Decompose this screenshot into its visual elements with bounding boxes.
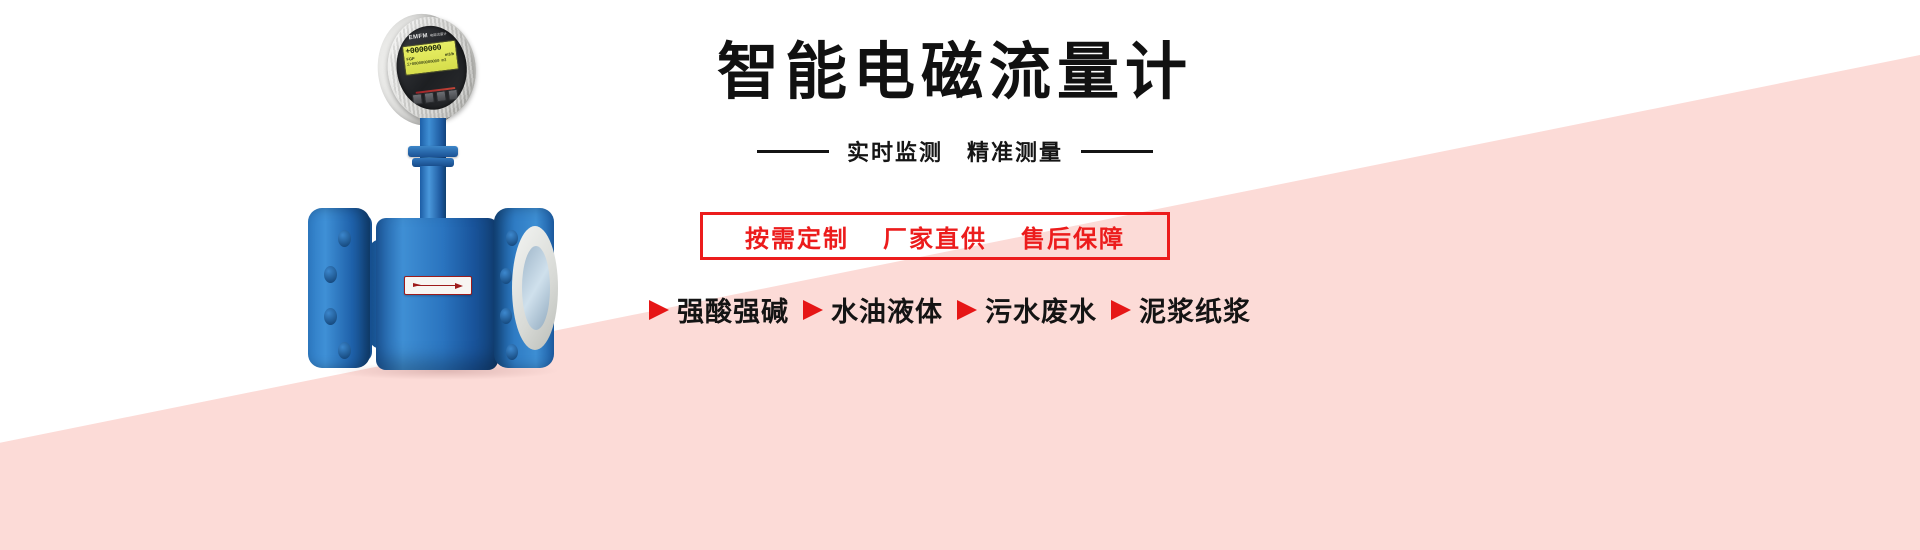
application-item-slurry-pulp: 泥浆纸浆 <box>1111 290 1251 329</box>
lcd-display: +0000000 FGP m3/h Σ+000000000000 m3 <box>402 40 459 76</box>
application-label: 污水废水 <box>985 290 1097 329</box>
subtitle-rule-right <box>1081 150 1153 153</box>
triangle-bullet-icon <box>803 300 823 320</box>
lcd-unit-label: m3/h <box>445 51 455 58</box>
application-item-sewage: 污水废水 <box>957 290 1097 329</box>
flange-left-bolt-hole-4 <box>338 342 351 359</box>
keypad-button-3[interactable] <box>436 90 447 102</box>
arrow-tip <box>455 283 463 289</box>
brand-text: EMFM <box>408 33 428 41</box>
triangle-bullet-icon <box>649 300 669 320</box>
promo-item-after-sales: 售后保障 <box>1021 219 1125 254</box>
promo-item-factory-direct: 厂家直供 <box>883 219 987 254</box>
flange-right-bolt-hole-2 <box>500 268 512 284</box>
arrow-shaft <box>417 285 457 287</box>
keypad-button-2[interactable] <box>424 92 435 104</box>
neck-flange-upper <box>408 146 458 157</box>
promo-badge-box: 按需定制 厂家直供 售后保障 <box>700 212 1170 260</box>
subtitle-item-realtime: 实时监测 <box>847 135 943 167</box>
triangle-bullet-icon <box>1111 300 1131 320</box>
application-label: 强酸强碱 <box>677 290 789 329</box>
application-item-acid-alkali: 强酸强碱 <box>649 290 789 329</box>
banner-title: 智能电磁流量计 <box>675 42 1235 104</box>
triangle-bullet-icon <box>957 300 977 320</box>
application-list: 强酸强碱 水油液体 污水废水 泥浆纸浆 <box>600 290 1300 329</box>
application-label: 水油液体 <box>831 290 943 329</box>
flow-direction-plate <box>404 276 472 295</box>
banner-subtitle-row: 实时监测 精准测量 <box>660 135 1250 167</box>
product-banner: EMFM电磁流量计 +0000000 FGP m3/h Σ+0000000000… <box>0 0 1920 550</box>
flange-right-bolt-hole-1 <box>506 230 518 246</box>
application-label: 泥浆纸浆 <box>1139 290 1251 329</box>
application-item-water-oil: 水油液体 <box>803 290 943 329</box>
flange-left-bolt-hole-2 <box>324 266 337 283</box>
brand-subtext: 电磁流量计 <box>430 32 447 38</box>
keypad-button-4[interactable] <box>448 89 459 101</box>
banner-text-content: 智能电磁流量计 实时监测 精准测量 按需定制 厂家直供 售后保障 强酸强碱 水油… <box>600 0 1300 550</box>
flow-direction-arrow-icon <box>413 283 463 288</box>
pipe-liner-bore <box>522 246 550 330</box>
flange-left-bolt-hole-1 <box>338 230 351 247</box>
keypad-button-1[interactable] <box>412 93 423 105</box>
banner-subtitle: 实时监测 精准测量 <box>847 135 1063 167</box>
flange-left <box>308 208 370 368</box>
flange-right-bolt-hole-3 <box>500 308 512 324</box>
promo-item-custom: 按需定制 <box>745 219 849 254</box>
subtitle-rule-left <box>757 150 829 153</box>
subtitle-item-precision: 精准测量 <box>967 135 1063 167</box>
flange-right-bolt-hole-4 <box>506 344 518 360</box>
flange-left-bolt-hole-3 <box>324 308 337 325</box>
